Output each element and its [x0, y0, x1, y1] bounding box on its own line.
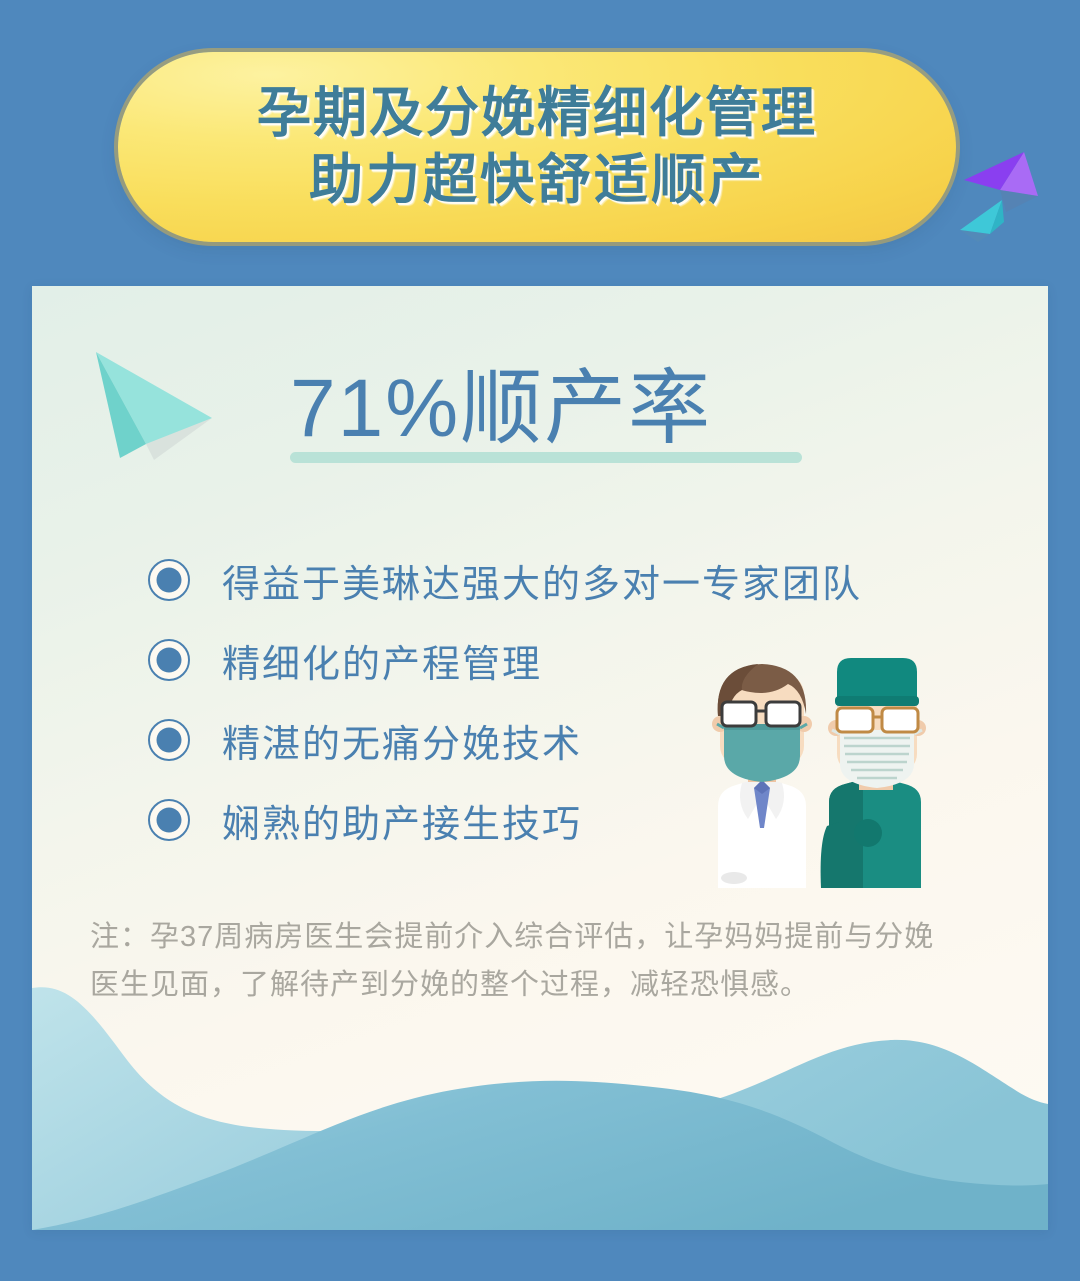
title-line-2: 助力超快舒适顺产: [309, 147, 765, 214]
list-item-label: 得益于美琳达强大的多对一专家团队: [222, 553, 862, 608]
bullet-dot-icon: [148, 559, 190, 601]
teal-pyramid-icon: [90, 348, 220, 468]
headline-block: 71%顺产率: [290, 366, 810, 476]
content-card: 71%顺产率 得益于美琳达强大的多对一专家团队 精细化的产程管理 精湛的无痛分娩…: [32, 286, 1048, 1230]
bullet-dot-icon: [148, 799, 190, 841]
list-item: 得益于美琳达强大的多对一专家团队: [148, 540, 988, 620]
cyan-triangle-icon: [958, 194, 1006, 244]
bullet-dot-icon: [148, 719, 190, 761]
title-line-1: 孕期及分娩精细化管理: [257, 80, 817, 147]
physician-doctor: [712, 664, 812, 888]
bullet-dot-icon: [148, 639, 190, 681]
footnote-line-1: 注：孕37周病房医生会提前介入综合评估，让孕妈妈提前与分娩: [90, 914, 1010, 962]
surgeon-doctor: [821, 658, 926, 888]
headline-text: 71%顺产率: [290, 366, 810, 452]
list-item-label: 精细化的产程管理: [222, 633, 542, 688]
bottom-wave-decoration: [32, 970, 1048, 1230]
title-banner: 孕期及分娩精细化管理 助力超快舒适顺产: [118, 52, 956, 242]
list-item-label: 娴熟的助产接生技巧: [222, 793, 582, 848]
list-item-label: 精湛的无痛分娩技术: [222, 713, 582, 768]
two-doctors-illustration: [696, 620, 996, 888]
poster-root: 孕期及分娩精细化管理 助力超快舒适顺产 71%顺产率 得益于美琳达强大的多对一: [0, 0, 1080, 1281]
